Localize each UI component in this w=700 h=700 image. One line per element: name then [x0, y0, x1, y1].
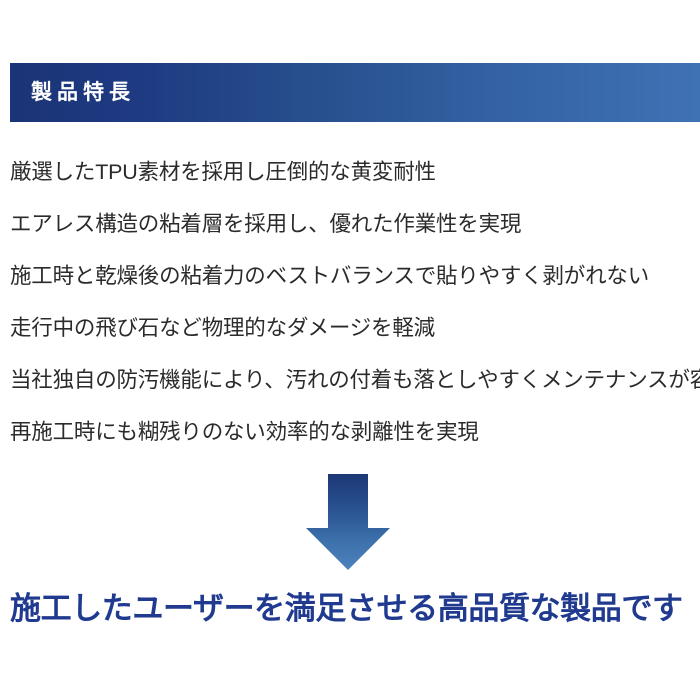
- conclusion-text: 施工したユーザーを満足させる高品質な製品です: [10, 593, 683, 624]
- feature-item-label: 当社独自の防汚機能により、汚れの付着も落としやすくメンテナンスが容易: [10, 370, 700, 392]
- feature-list: 厳選したTPU素材を採用し圧倒的な黄変耐性 エアレス構造の粘着層を採用し、優れた…: [10, 147, 700, 459]
- feature-item: 当社独自の防汚機能により、汚れの付着も落としやすくメンテナンスが容易: [10, 355, 700, 407]
- feature-item-label: 再施工時にも糊残りのない効率的な剥離性を実現: [10, 422, 479, 444]
- feature-item: 厳選したTPU素材を採用し圧倒的な黄変耐性: [10, 147, 700, 199]
- feature-item: 再施工時にも糊残りのない効率的な剥離性を実現: [10, 407, 700, 459]
- feature-item: 走行中の飛び石など物理的なダメージを軽減: [10, 303, 700, 355]
- section-header-bar: 製品特長: [10, 63, 700, 122]
- arrow-down-icon: [302, 472, 394, 572]
- section-header-title: 製品特長: [31, 82, 135, 103]
- product-features-panel: 製品特長 厳選したTPU素材を採用し圧倒的な黄変耐性 エアレス構造の粘着層を採用…: [0, 0, 700, 700]
- feature-item-label: 走行中の飛び石など物理的なダメージを軽減: [10, 318, 435, 340]
- conclusion-banner: 施工したユーザーを満足させる高品質な製品です: [10, 586, 700, 630]
- feature-item: エアレス構造の粘着層を採用し、優れた作業性を実現: [10, 199, 700, 251]
- feature-item: 施工時と乾燥後の粘着力のベストバランスで貼りやすく剥がれない: [10, 251, 700, 303]
- feature-item-label: 厳選したTPU素材を採用し圧倒的な黄変耐性: [10, 162, 436, 184]
- feature-item-label: エアレス構造の粘着層を採用し、優れた作業性を実現: [10, 214, 521, 236]
- feature-item-label: 施工時と乾燥後の粘着力のベストバランスで貼りやすく剥がれない: [10, 266, 649, 288]
